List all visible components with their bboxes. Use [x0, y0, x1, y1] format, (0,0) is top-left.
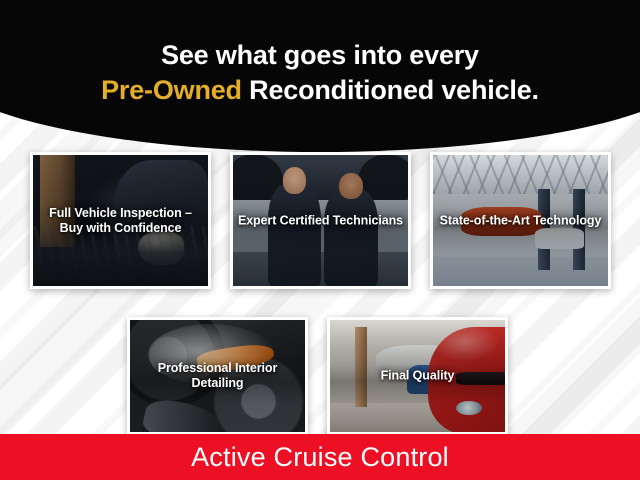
promo-graphic: See what goes into every Pre-Owned Recon… [0, 0, 640, 480]
headline-line-2: Pre-Owned Reconditioned vehicle. [101, 73, 539, 108]
card-caption-line-1: State-of-the-Art Technology [437, 213, 604, 228]
card-caption-line-1: Professional Interior [134, 361, 301, 376]
card-caption: Full Vehicle Inspection – Buy with Confi… [37, 205, 204, 236]
feature-card-expert-certified-technicians[interactable]: Expert Certified Technicians [230, 152, 411, 289]
header-banner: See what goes into every Pre-Owned Recon… [0, 0, 640, 152]
card-caption-line-1: Full Vehicle Inspection – [37, 205, 204, 220]
card-caption: State-of-the-Art Technology [437, 213, 604, 228]
headline-line-1-text: See what goes into every [161, 40, 479, 70]
card-caption-line-1: Final Quality [334, 368, 501, 383]
footer-label: Active Cruise Control [191, 444, 449, 471]
card-caption-line-2: Detailing [134, 376, 301, 391]
headline-line-1: See what goes into every [161, 38, 479, 73]
card-caption-line-1: Expert Certified Technicians [237, 213, 404, 228]
headline-accent-text: Pre-Owned [101, 75, 242, 105]
feature-card-final-quality[interactable]: Final Quality [327, 317, 508, 435]
footer-banner: Active Cruise Control [0, 434, 640, 480]
feature-card-full-vehicle-inspection[interactable]: Full Vehicle Inspection – Buy with Confi… [30, 152, 211, 289]
card-caption: Final Quality [334, 368, 501, 383]
card-caption: Expert Certified Technicians [237, 213, 404, 228]
feature-card-state-of-the-art-technology[interactable]: State-of-the-Art Technology [430, 152, 611, 289]
feature-card-professional-interior-detailing[interactable]: Professional Interior Detailing [127, 317, 308, 435]
card-caption: Professional Interior Detailing [134, 361, 301, 392]
card-caption-line-2: Buy with Confidence [37, 221, 204, 236]
headline-line-2-text: Reconditioned vehicle. [242, 75, 539, 105]
